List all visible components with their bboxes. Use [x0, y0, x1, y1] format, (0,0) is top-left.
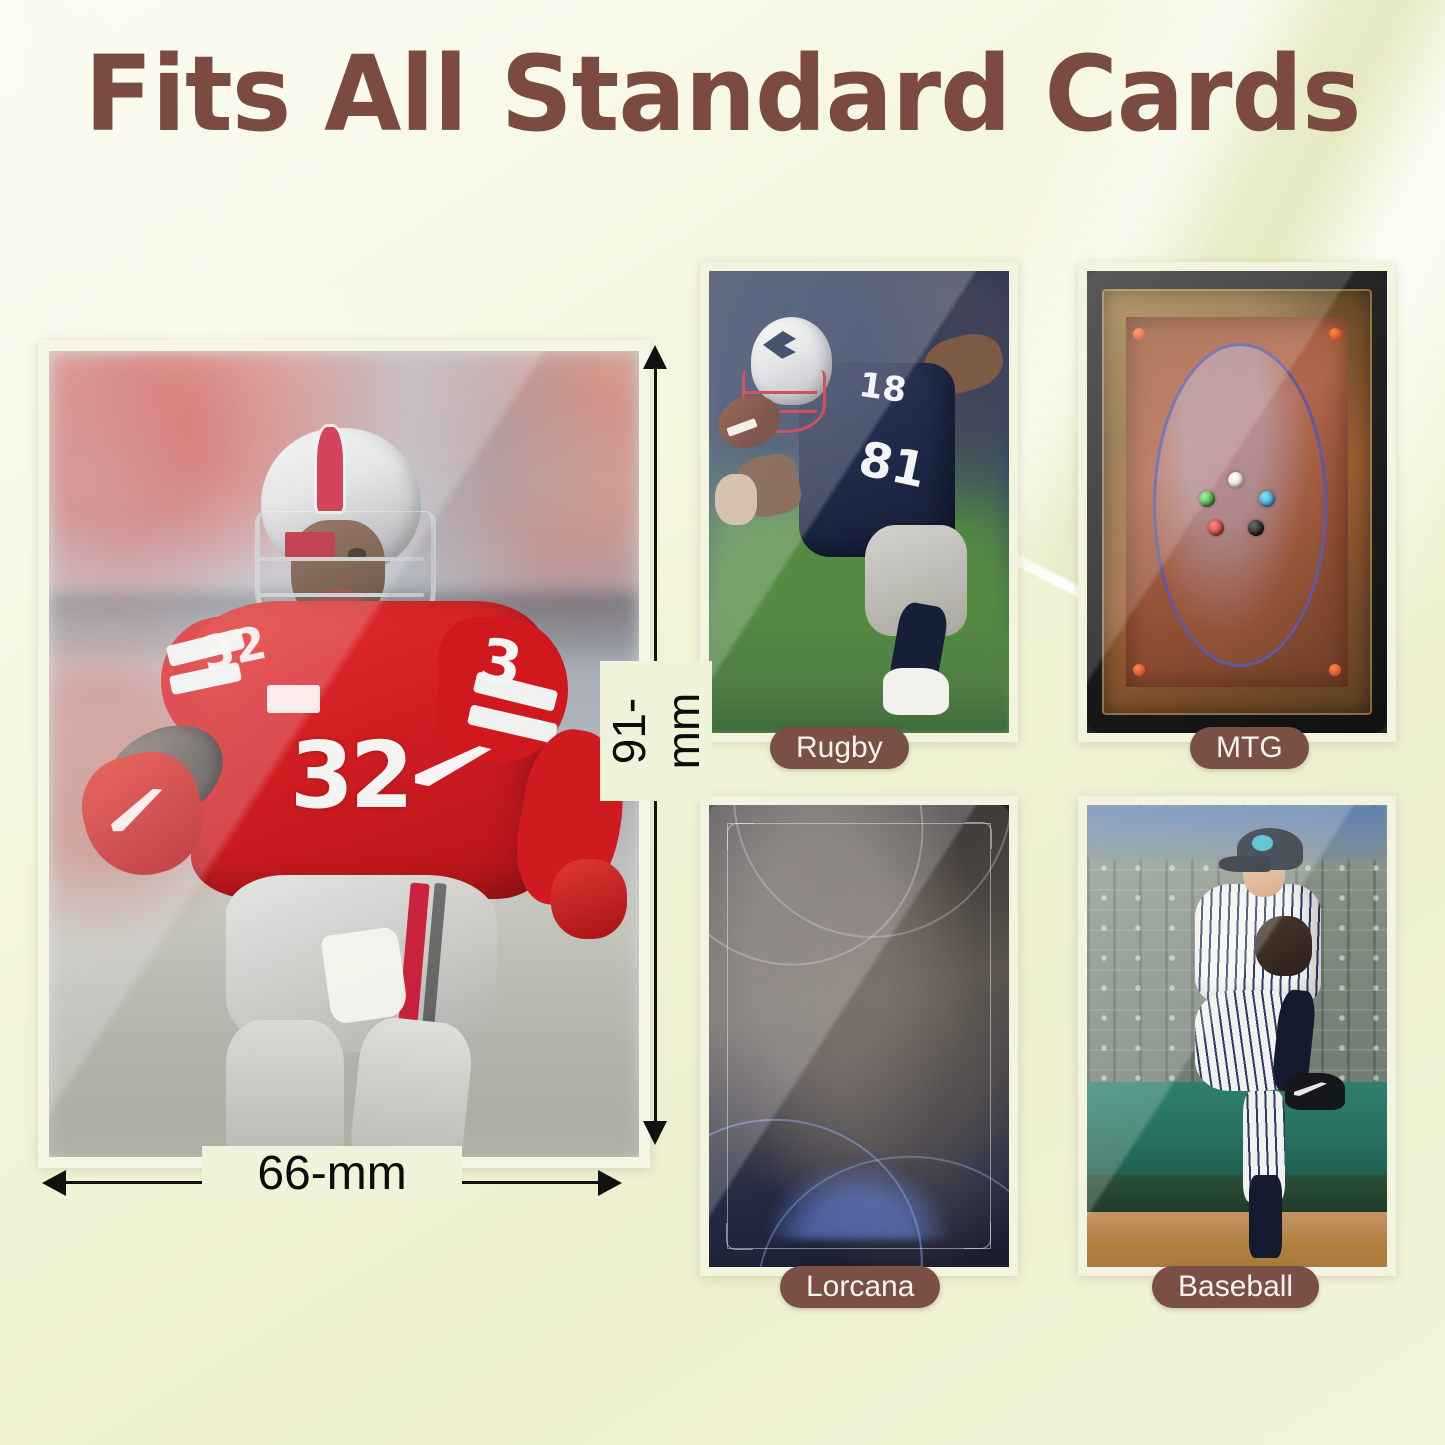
card-lorcana-artwork: [709, 805, 1009, 1267]
mtg-ornate-frame: [1102, 289, 1372, 714]
towel: [321, 926, 409, 1024]
grass-strip: [1087, 1175, 1387, 1217]
rugby-field: [709, 613, 1009, 733]
decorative-diagonal-band-bottom-left: [0, 851, 25, 1445]
label-mtg: MTG: [1190, 727, 1309, 769]
hero-card-football: 32 3 32: [38, 340, 650, 1168]
baseball-glove: [1255, 916, 1312, 976]
mtg-oval: [1153, 343, 1327, 667]
jersey-number-shoulder: 32: [198, 619, 270, 677]
dimension-width-label: 66-mm: [202, 1146, 462, 1201]
dimension-height-label: 91-mm: [600, 661, 712, 801]
facemask-bar: [258, 557, 423, 561]
card-rugby-artwork: 18 81: [709, 271, 1009, 733]
mtg-inner-panel: [1126, 317, 1347, 687]
glove-right: [551, 859, 628, 940]
jersey-number-front: 32: [232, 730, 468, 851]
card-baseball: [1078, 796, 1396, 1276]
card-baseball-artwork: [1087, 805, 1387, 1267]
leg-left: [226, 1020, 344, 1157]
mtg-corner-dot: [1329, 664, 1341, 676]
card-rugby: 18 81: [700, 262, 1018, 742]
conference-logo-chest: [267, 685, 320, 712]
facemask-bar: [258, 593, 423, 597]
helmet-stripe: [317, 427, 343, 512]
hero-card-artwork: 32 3 32: [49, 351, 639, 1157]
card-mtg-artwork: [1087, 271, 1387, 733]
cap-brim: [1219, 856, 1270, 872]
mtg-corner-dot: [1133, 328, 1145, 340]
dimension-width: 66-mm: [42, 1168, 622, 1198]
card-mtg: [1078, 262, 1396, 742]
label-rugby: Rugby: [770, 727, 909, 769]
mana-dot-blue: [1259, 491, 1275, 507]
card-lorcana: [700, 796, 1018, 1276]
mtg-corner-dot: [1133, 664, 1145, 676]
rugby-facemask-bar: [745, 391, 817, 394]
dimension-height: 91-mm: [641, 345, 669, 1145]
mtg-corner-dot: [1329, 328, 1341, 340]
jersey-number-sleeve: 3: [475, 630, 526, 696]
pitcher-sock-standing: [1249, 1175, 1282, 1258]
infield-dirt: [1087, 1212, 1387, 1267]
rugby-shoulder-number: 18: [856, 365, 908, 411]
label-lorcana: Lorcana: [780, 1266, 940, 1308]
rugby-hand: [715, 474, 757, 525]
label-baseball: Baseball: [1152, 1266, 1319, 1308]
page-title: Fits All Standard Cards: [29, 38, 1416, 150]
arrow-head-down-icon: [643, 1121, 667, 1145]
leg-right: [349, 1015, 476, 1157]
infographic-canvas: Fits All Standard Cards: [0, 0, 1445, 1445]
arrow-head-right-icon: [598, 1170, 622, 1196]
rugby-shoe: [883, 668, 949, 714]
pitcher-shoe: [1285, 1073, 1345, 1110]
lorcana-ornate-border-corners: [727, 823, 991, 1248]
